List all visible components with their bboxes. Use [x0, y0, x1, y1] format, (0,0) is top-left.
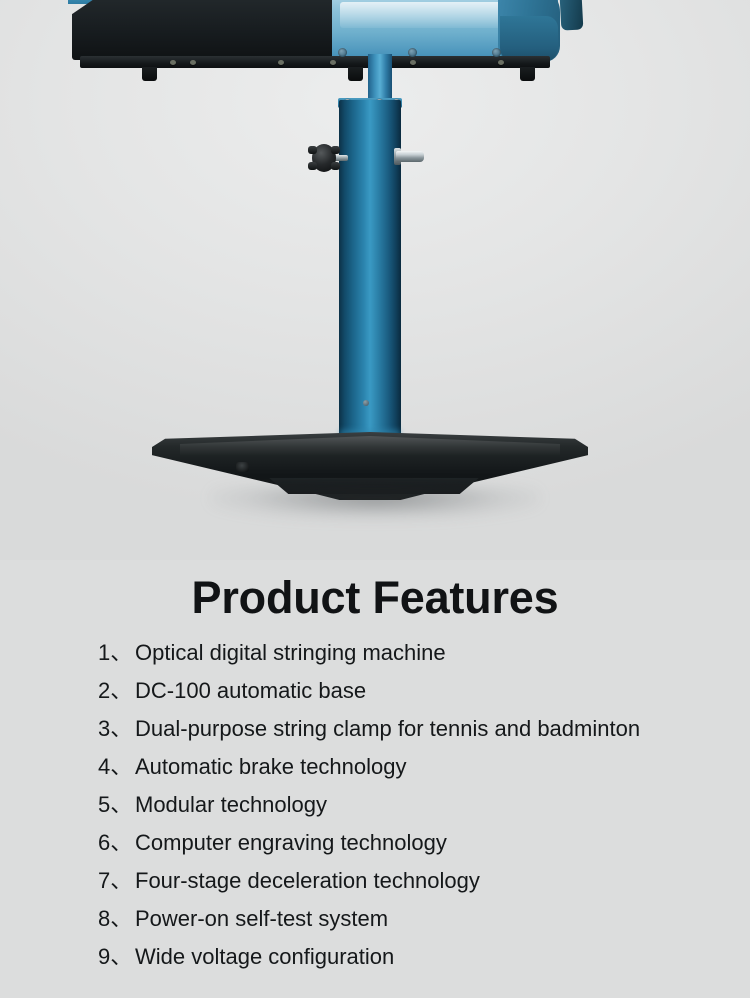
column-outer-cylinder — [339, 100, 401, 455]
rail-screw — [278, 60, 284, 65]
locking-pin — [396, 151, 424, 162]
feature-item-number: 3、 — [98, 710, 135, 748]
features-list: 1、Optical digital stringing machine2、DC-… — [0, 634, 750, 976]
panel-screw — [338, 48, 347, 57]
machine-foot — [520, 67, 535, 81]
product-features-section: Product Features 1、Optical digital strin… — [0, 560, 750, 998]
height-adjust-knob — [312, 144, 336, 172]
feature-list-item: 4、Automatic brake technology — [98, 748, 750, 786]
feature-item-number: 1、 — [98, 634, 135, 672]
feature-item-number: 7、 — [98, 862, 135, 900]
rail-screw — [190, 60, 196, 65]
feature-item-text: Computer engraving technology — [135, 824, 447, 862]
rail-screw — [330, 60, 336, 65]
panel-gloss — [340, 2, 506, 28]
feature-list-item: 1、Optical digital stringing machine — [98, 634, 750, 672]
feature-item-text: Dual-purpose string clamp for tennis and… — [135, 710, 640, 748]
machine-foot — [142, 67, 157, 81]
rail-screw — [498, 60, 504, 65]
machine-right-leg — [559, 0, 584, 31]
feature-item-text: Optical digital stringing machine — [135, 634, 446, 672]
rail-screw — [410, 60, 416, 65]
feature-item-text: Modular technology — [135, 786, 327, 824]
feature-item-text: Wide voltage configuration — [135, 938, 394, 976]
feature-list-item: 2、DC-100 automatic base — [98, 672, 750, 710]
knob-lobe — [308, 146, 317, 154]
feature-item-number: 4、 — [98, 748, 135, 786]
feature-list-item: 3、Dual-purpose string clamp for tennis a… — [98, 710, 750, 748]
feature-list-item: 5、Modular technology — [98, 786, 750, 824]
feature-item-number: 9、 — [98, 938, 135, 976]
pedestal-base-port — [236, 462, 249, 472]
feature-item-text: Power-on self-test system — [135, 900, 388, 938]
panel-screw — [408, 48, 417, 57]
feature-list-item: 9、Wide voltage configuration — [98, 938, 750, 976]
product-photo — [0, 0, 750, 560]
feature-item-number: 6、 — [98, 824, 135, 862]
feature-list-item: 7、Four-stage deceleration technology — [98, 862, 750, 900]
pedestal-base-shadow — [210, 486, 540, 520]
machine-body-light-blue-panel — [332, 0, 514, 62]
page-title: Product Features — [0, 560, 750, 622]
feature-item-text: DC-100 automatic base — [135, 672, 366, 710]
machine-foot — [348, 67, 363, 81]
feature-item-number: 2、 — [98, 672, 135, 710]
feature-item-text: Automatic brake technology — [135, 748, 407, 786]
feature-list-item: 6、Computer engraving technology — [98, 824, 750, 862]
rail-screw — [170, 60, 176, 65]
feature-item-text: Four-stage deceleration technology — [135, 862, 480, 900]
knob-lobe — [331, 146, 340, 154]
column-inner-square-tube — [368, 54, 392, 102]
product-feature-page: Product Features 1、Optical digital strin… — [0, 0, 750, 998]
feature-list-item: 8、Power-on self-test system — [98, 900, 750, 938]
column-lower-screw — [363, 400, 369, 406]
feature-item-number: 5、 — [98, 786, 135, 824]
machine-body-black-panel — [72, 0, 334, 60]
knob-lobe — [308, 162, 317, 170]
panel-screw — [492, 48, 501, 57]
knob-lobe — [331, 162, 340, 170]
feature-item-number: 8、 — [98, 900, 135, 938]
